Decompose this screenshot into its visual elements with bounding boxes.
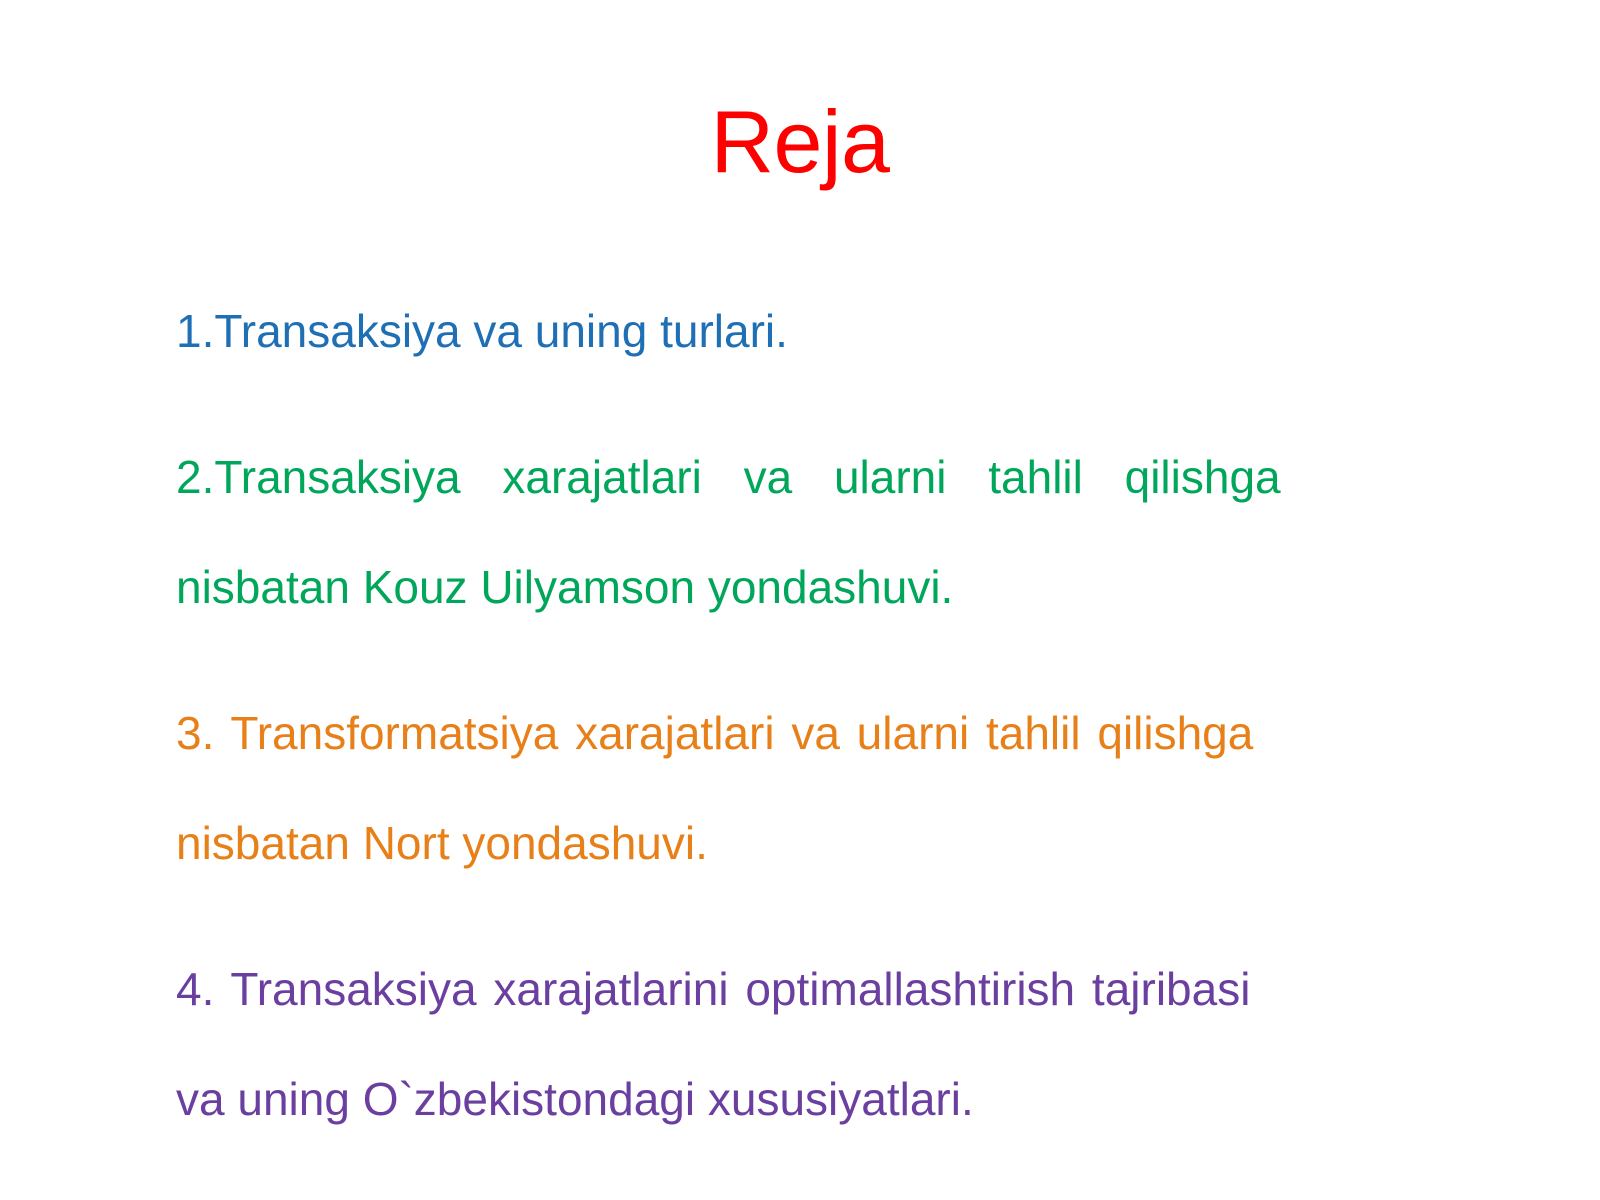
presentation-slide: Reja 1.Transaksiya va uning turlari. 2.T… (0, 0, 1600, 1200)
list-item: 1.Transaksiya va uning turlari. (176, 276, 1478, 386)
list-item: 2.Transaksiya xarajatlari va ularni tahl… (176, 422, 1478, 642)
list-item-line: nisbatan Nort yondashuvi. (176, 788, 1478, 898)
list-item-line: 3. Transformatsiya xarajatlari va ularni… (176, 678, 1478, 788)
list-item: 4. Transaksiya xarajatlarini optimallash… (176, 934, 1478, 1154)
page-title: Reja (0, 96, 1600, 188)
list-item-line: nisbatan Kouz Uilyamson yondashuvi. (176, 532, 1478, 642)
agenda-list: 1.Transaksiya va uning turlari. 2.Transa… (176, 276, 1478, 1154)
list-item: 3. Transformatsiya xarajatlari va ularni… (176, 678, 1478, 898)
list-item-line: 1.Transaksiya va uning turlari. (176, 276, 1478, 386)
list-item-line: 4. Transaksiya xarajatlarini optimallash… (176, 934, 1478, 1044)
list-item-line: 2.Transaksiya xarajatlari va ularni tahl… (176, 422, 1478, 532)
list-item-line: va uning O`zbekistondagi xususiyatlari. (176, 1044, 1478, 1154)
